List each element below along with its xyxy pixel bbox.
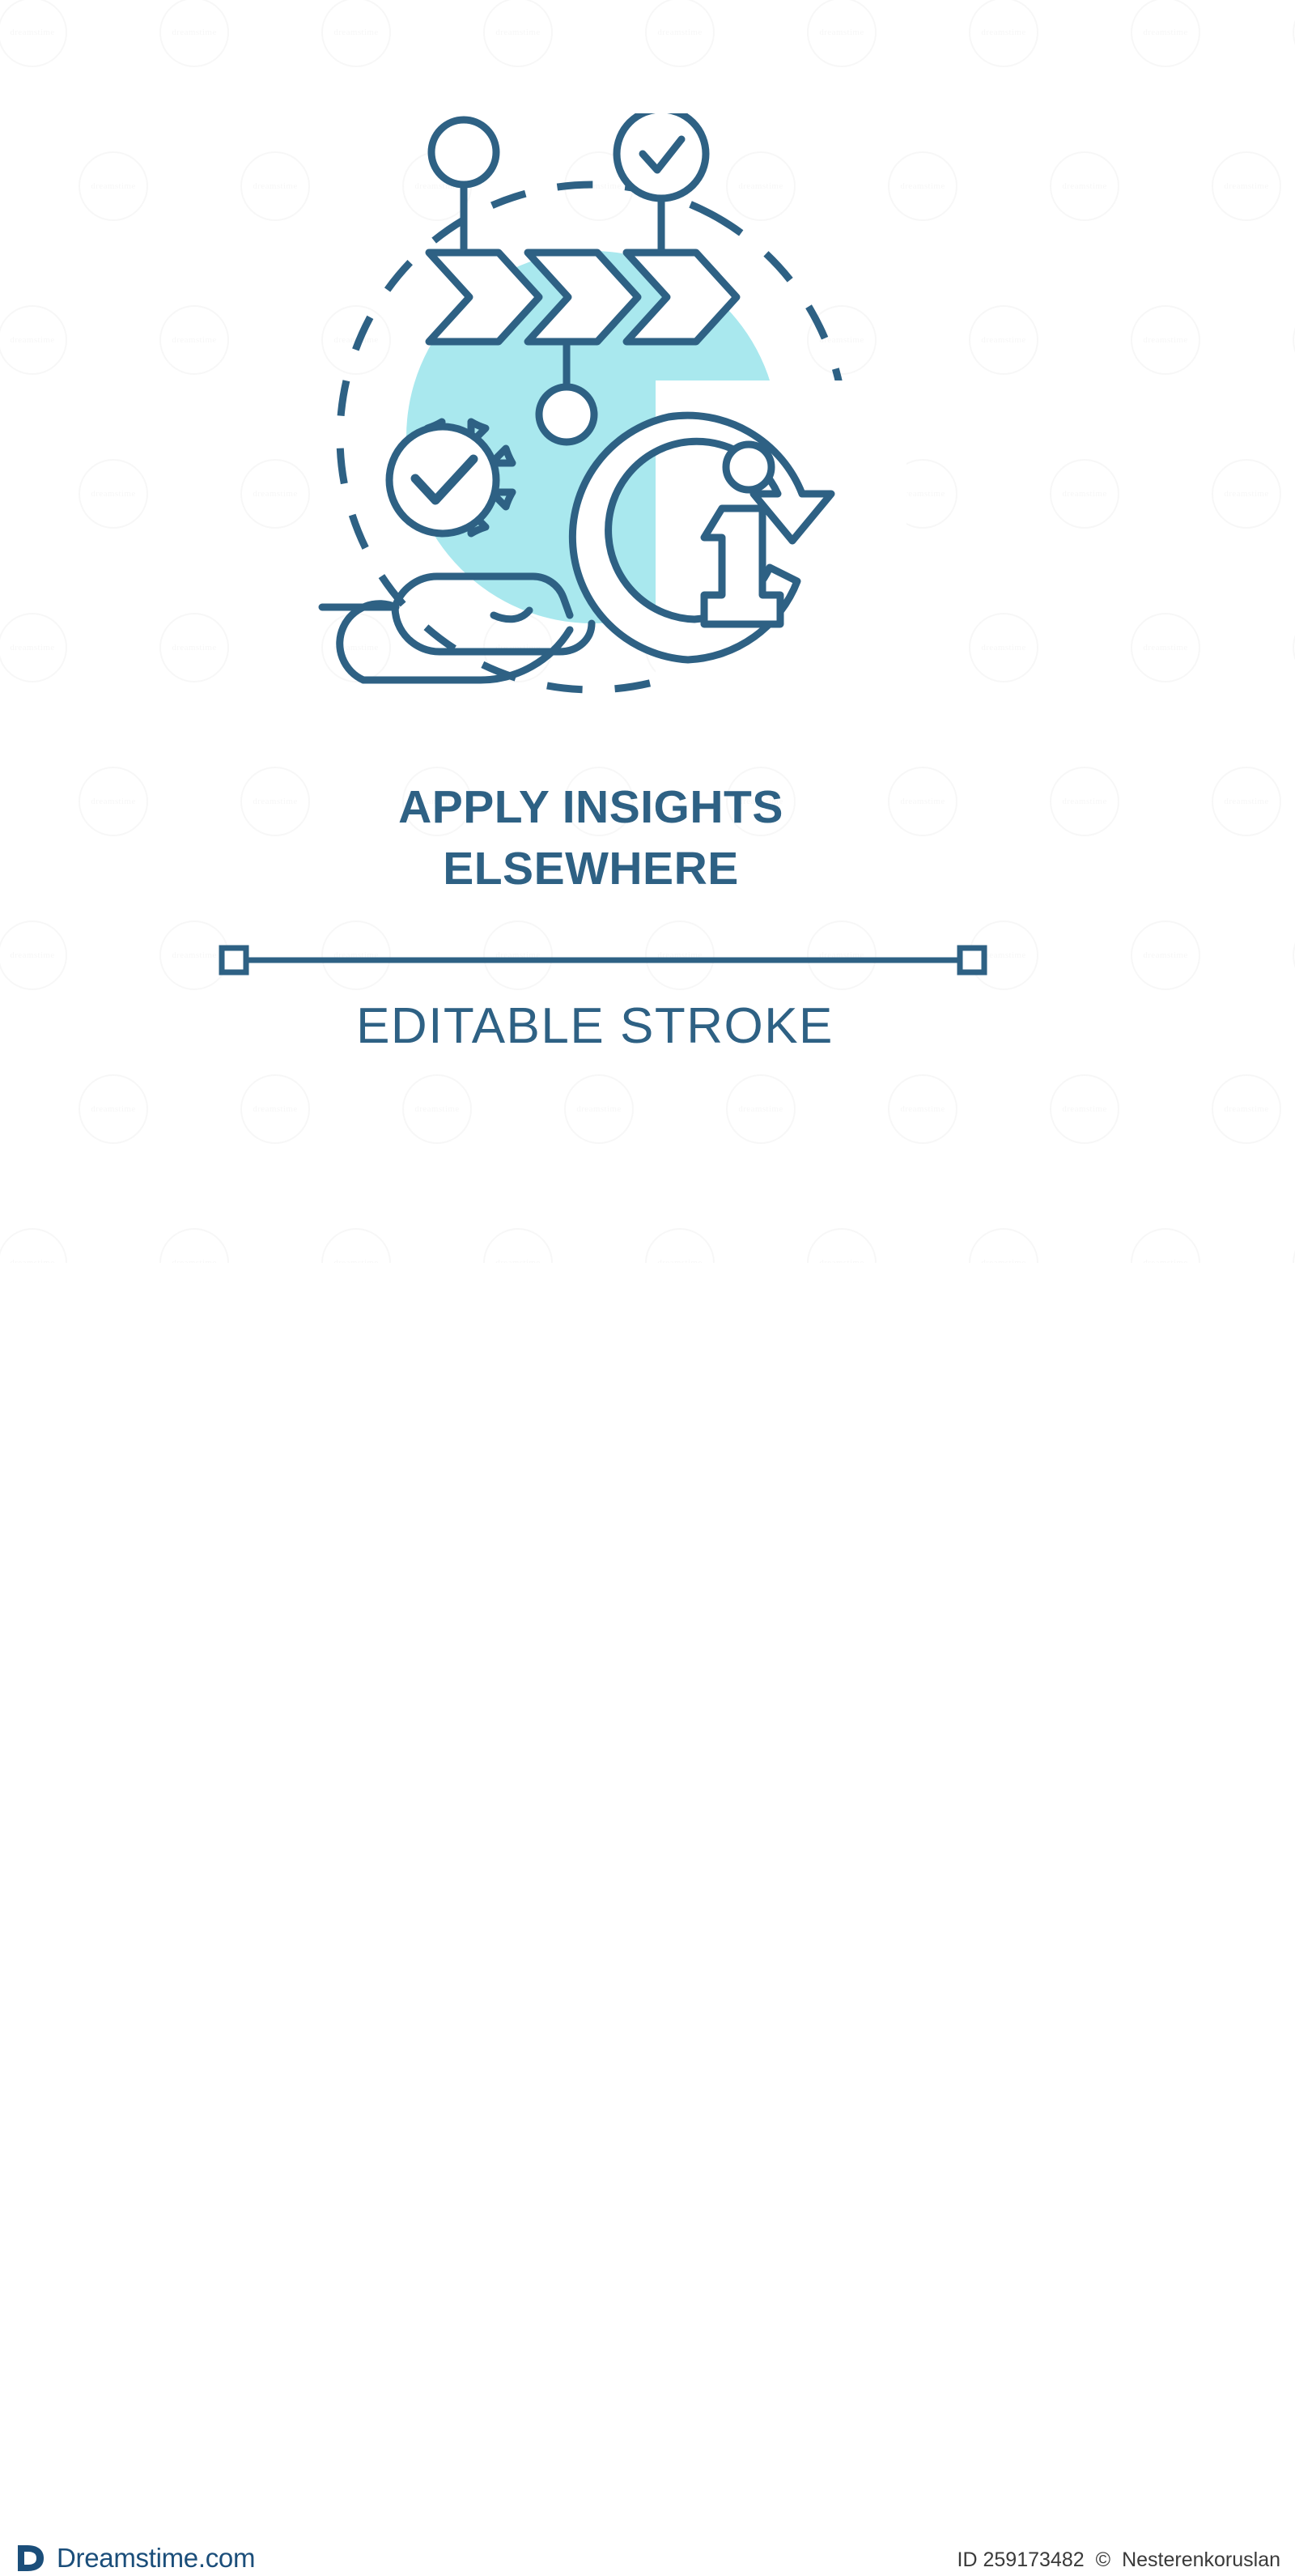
watermark-text: dreamstime	[253, 1104, 297, 1114]
watermark-tile: dreamstime	[1165, 721, 1295, 882]
watermark-circle	[79, 459, 148, 529]
watermark-circle	[1131, 0, 1200, 67]
watermark-tile: dreamstime	[0, 259, 113, 421]
watermark-circle	[159, 613, 229, 682]
watermark-circle	[888, 1074, 957, 1144]
watermark-circle	[483, 0, 553, 67]
watermark-text: dreamstime	[10, 335, 54, 345]
watermark-text: dreamstime	[981, 950, 1025, 960]
editable-stroke-label: EDITABLE STROKE	[0, 997, 1190, 1055]
dreamstime-logo-text: Dreamstime.com	[57, 2543, 255, 2574]
watermark-text: dreamstime	[1224, 181, 1268, 191]
watermark-text: dreamstime	[1224, 489, 1268, 499]
watermark-tile: dreamstime	[0, 567, 113, 729]
watermark-tile: dreamstime	[1246, 259, 1295, 421]
watermark-tile: dreamstime	[1085, 567, 1246, 729]
watermark-circle	[483, 1228, 553, 1263]
watermark-text: dreamstime	[1143, 335, 1187, 345]
editable-stroke-bar	[219, 943, 987, 977]
watermark-text: dreamstime	[10, 950, 54, 960]
page-title-line-1: APPLY INSIGHTS	[0, 777, 1182, 839]
watermark-circle	[79, 1074, 148, 1144]
watermark-text: dreamstime	[414, 1104, 459, 1114]
watermark-tile: dreamstime	[923, 567, 1085, 729]
watermark-text: dreamstime	[981, 28, 1025, 37]
watermark-text: dreamstime	[576, 1104, 621, 1114]
watermark-circle	[1131, 1228, 1200, 1263]
watermark-circle	[726, 1074, 796, 1144]
watermark-tile: dreamstime	[1085, 259, 1246, 421]
watermark-circle	[645, 0, 715, 67]
watermark-tile: dreamstime	[113, 1182, 275, 1263]
watermark-circle	[1131, 305, 1200, 375]
watermark-circle	[1212, 767, 1281, 836]
watermark-circle	[321, 0, 391, 67]
watermark-circle	[564, 1074, 634, 1144]
watermark-circle	[240, 459, 310, 529]
watermark-tile: dreamstime	[923, 259, 1085, 421]
watermark-tile: dreamstime	[275, 0, 437, 113]
square-handle-left	[222, 948, 246, 972]
dreamstime-logo-icon	[13, 2540, 49, 2576]
watermark-tile: dreamstime	[1004, 105, 1165, 267]
watermark-tile: dreamstime	[1246, 874, 1295, 1036]
watermark-circle	[0, 920, 67, 990]
watermark-text: dreamstime	[172, 950, 216, 960]
watermark-tile: dreamstime	[599, 0, 761, 113]
watermark-tile: dreamstime	[761, 1182, 923, 1263]
watermark-text: dreamstime	[981, 335, 1025, 345]
watermark-circle	[402, 1074, 472, 1144]
watermark-text: dreamstime	[253, 181, 297, 191]
watermark-circle	[807, 1228, 877, 1263]
watermark-tile: dreamstime	[1246, 1182, 1295, 1263]
watermark-text: dreamstime	[900, 181, 945, 191]
watermark-tile: dreamstime	[113, 567, 275, 729]
author-name: Nesterenkoruslan	[1122, 2548, 1280, 2572]
watermark-circle	[159, 0, 229, 67]
watermark-text: dreamstime	[738, 1104, 783, 1114]
watermark-circle	[969, 1228, 1038, 1263]
watermark-text: dreamstime	[10, 28, 54, 37]
chevron-arrows-row	[429, 253, 737, 342]
watermark-text: dreamstime	[819, 28, 864, 37]
watermark-text: dreamstime	[495, 28, 540, 37]
watermark-text: dreamstime	[900, 489, 945, 499]
watermark-circle	[1050, 459, 1119, 529]
watermark-circle	[1212, 1074, 1281, 1144]
watermark-circle	[969, 0, 1038, 67]
watermark-tile: dreamstime	[761, 0, 923, 113]
watermark-tile: dreamstime	[923, 0, 1085, 113]
watermark-circle	[159, 305, 229, 375]
watermark-tile: dreamstime	[1085, 1182, 1246, 1263]
watermark-tile: dreamstime	[0, 0, 113, 113]
image-id: ID 259173482	[957, 2548, 1085, 2572]
watermark-circle	[321, 1228, 391, 1263]
watermark-text: dreamstime	[1062, 489, 1106, 499]
square-handle-right	[960, 948, 984, 972]
watermark-tile: dreamstime	[599, 1182, 761, 1263]
watermark-circle	[807, 0, 877, 67]
watermark-text: dreamstime	[1143, 950, 1187, 960]
watermark-tile: dreamstime	[32, 413, 194, 575]
footer-meta: ID 259173482 © Nesterenkoruslan	[957, 2548, 1280, 2572]
watermark-text: dreamstime	[172, 28, 216, 37]
watermark-circle	[0, 305, 67, 375]
watermark-text: dreamstime	[172, 335, 216, 345]
watermark-text: dreamstime	[91, 1104, 135, 1114]
watermark-circle	[969, 305, 1038, 375]
watermark-circle	[0, 0, 67, 67]
watermark-circle	[645, 1228, 715, 1263]
watermark-text: dreamstime	[1062, 181, 1106, 191]
watermark-tile: dreamstime	[437, 1182, 599, 1263]
watermark-circle	[969, 613, 1038, 682]
watermark-tile: dreamstime	[1165, 105, 1295, 267]
watermark-tile: dreamstime	[1085, 0, 1246, 113]
watermark-circle	[1050, 151, 1119, 221]
watermark-circle	[1131, 920, 1200, 990]
watermark-tile: dreamstime	[113, 0, 275, 113]
watermark-circle	[0, 613, 67, 682]
watermark-tile: dreamstime	[0, 1182, 113, 1263]
watermark-text: dreamstime	[1143, 643, 1187, 653]
watermark-text: dreamstime	[10, 643, 54, 653]
footer-bar: Dreamstime.com ID 259173482 © Nesterenko…	[0, 1263, 1295, 1368]
watermark-circle	[1050, 1074, 1119, 1144]
watermark-circle	[1212, 151, 1281, 221]
watermark-text: dreamstime	[900, 1104, 945, 1114]
concept-illustration	[308, 113, 906, 712]
watermark-circle	[1131, 613, 1200, 682]
watermark-tile: dreamstime	[1246, 567, 1295, 729]
watermark-text: dreamstime	[91, 181, 135, 191]
watermark-tile: dreamstime	[32, 105, 194, 267]
watermark-circle	[1212, 459, 1281, 529]
watermark-text: dreamstime	[333, 28, 378, 37]
watermark-circle	[79, 151, 148, 221]
watermark-tile: dreamstime	[437, 0, 599, 113]
watermark-text: dreamstime	[1143, 28, 1187, 37]
watermark-text: dreamstime	[657, 28, 702, 37]
watermark-circle	[240, 151, 310, 221]
watermark-circle	[240, 1074, 310, 1144]
watermark-tile: dreamstime	[1246, 0, 1295, 113]
watermark-text: dreamstime	[1224, 1104, 1268, 1114]
watermark-circle	[159, 1228, 229, 1263]
dreamstime-logo[interactable]: Dreamstime.com	[13, 2540, 255, 2576]
copyright-icon: ©	[1096, 2548, 1110, 2572]
page-title: APPLY INSIGHTS ELSEWHERE	[0, 777, 1182, 900]
watermark-text: dreamstime	[981, 643, 1025, 653]
watermark-text: dreamstime	[253, 489, 297, 499]
check-circle-top-right	[617, 113, 706, 253]
watermark-text: dreamstime	[1062, 1104, 1106, 1114]
watermark-tile: dreamstime	[275, 1182, 437, 1263]
watermark-tile: dreamstime	[1165, 413, 1295, 575]
watermark-tile: dreamstime	[1004, 413, 1165, 575]
watermark-circle	[0, 1228, 67, 1263]
watermark-text: dreamstime	[91, 489, 135, 499]
watermark-text: dreamstime	[172, 643, 216, 653]
watermark-tile: dreamstime	[113, 259, 275, 421]
watermark-tile: dreamstime	[923, 1182, 1085, 1263]
page-title-line-2: ELSEWHERE	[0, 839, 1182, 900]
watermark-text: dreamstime	[1224, 797, 1268, 806]
